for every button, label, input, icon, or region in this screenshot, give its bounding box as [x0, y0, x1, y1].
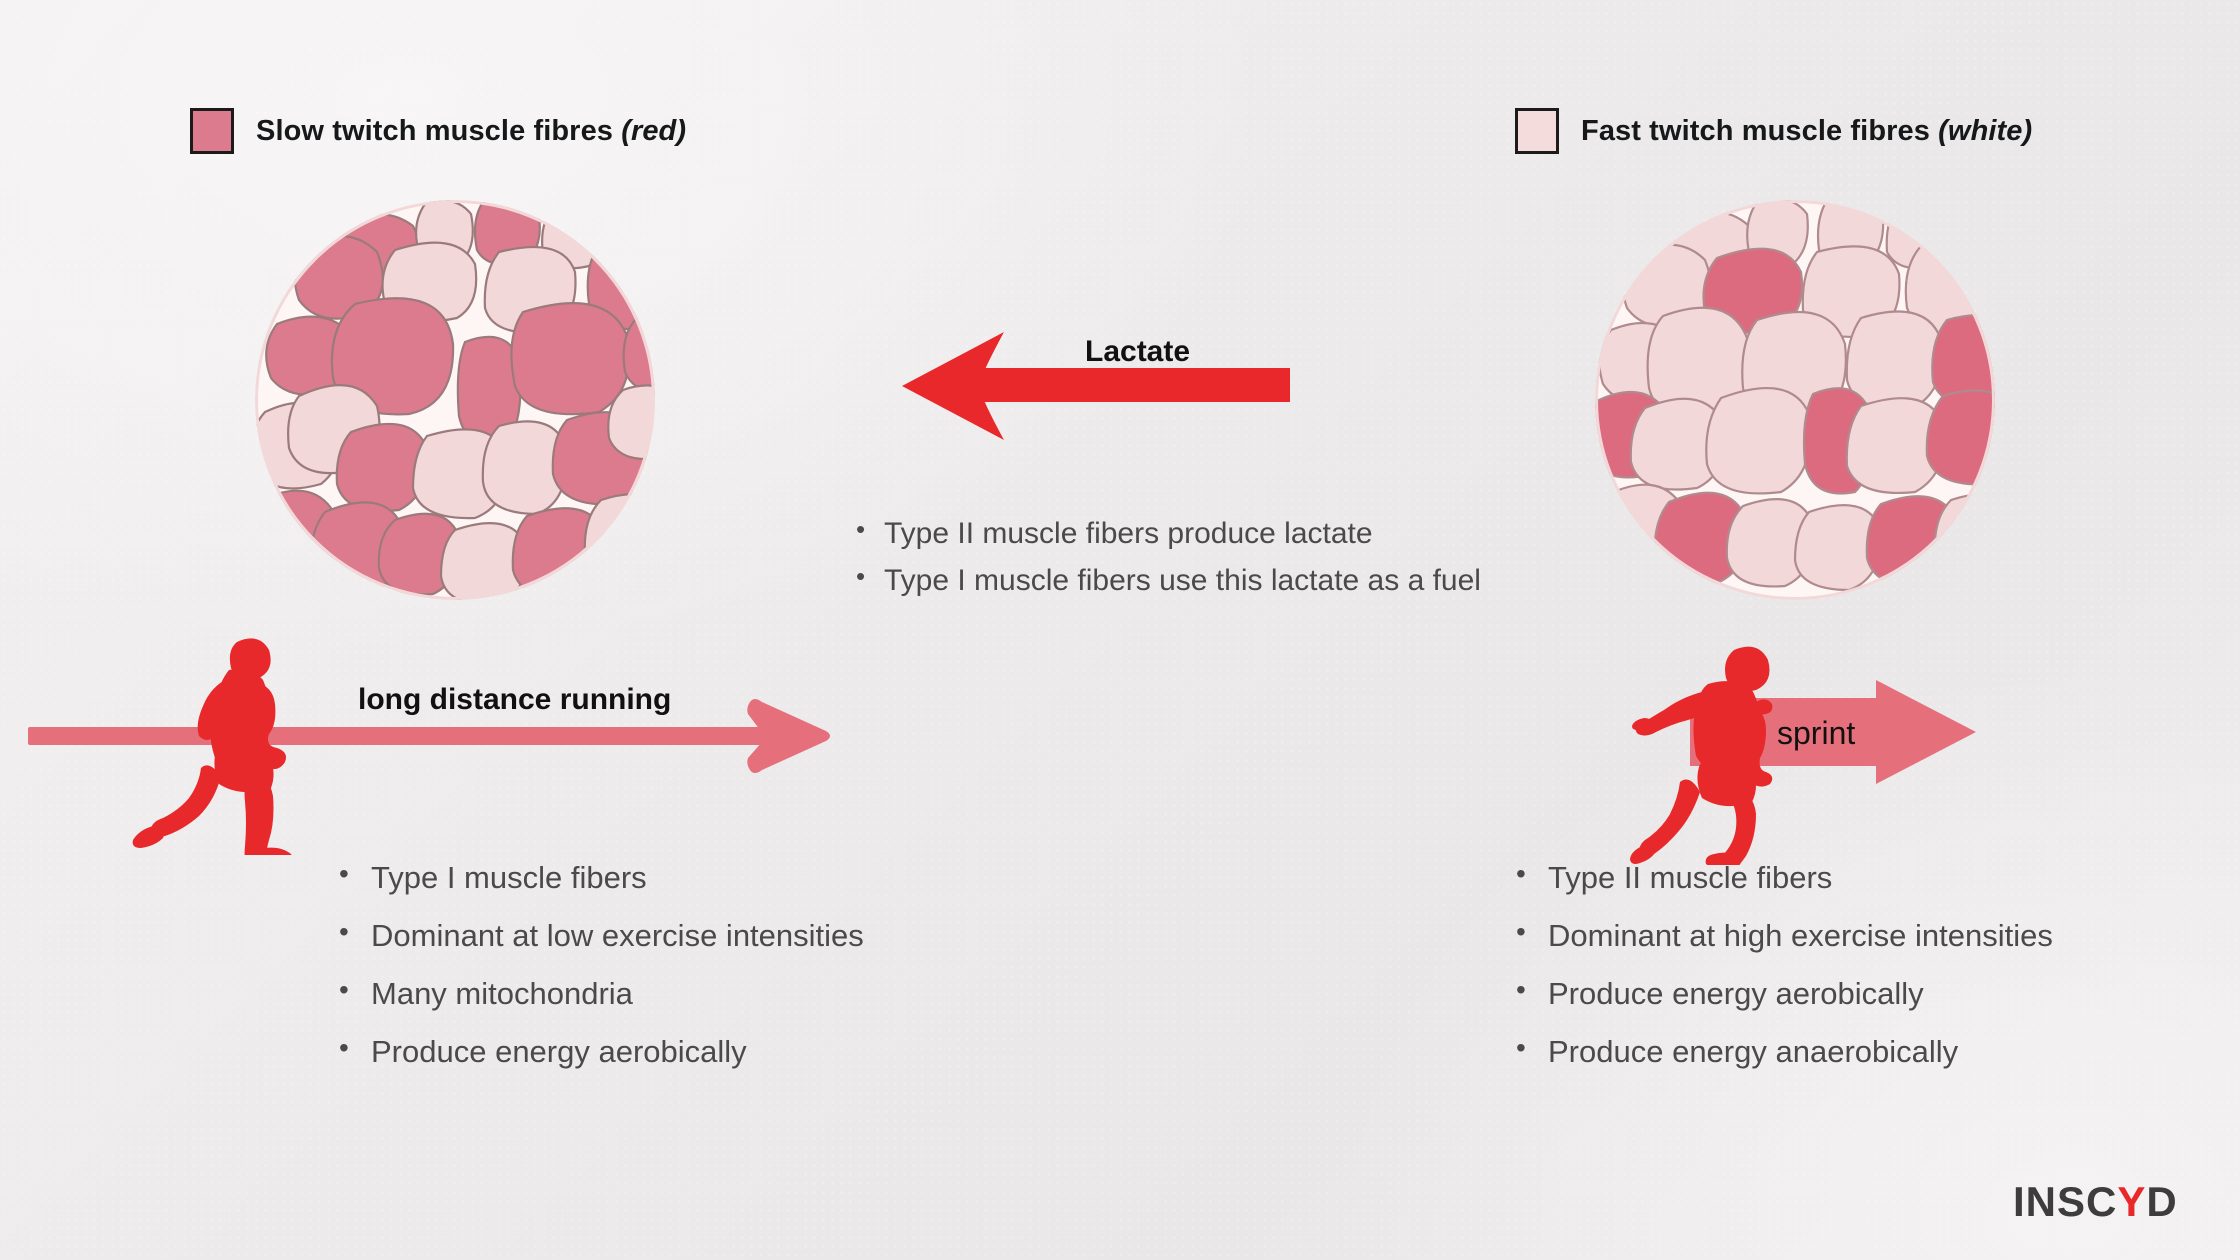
- lactate-label: Lactate: [1085, 335, 1190, 369]
- legend-slow-twitch: Slow twitch muscle fibres (red): [190, 108, 686, 154]
- legend-slow-twitch-em: (red): [621, 115, 686, 147]
- inscyd-logo: INSCYD: [2013, 1178, 2178, 1226]
- list-item: Produce energy aerobically: [335, 1034, 864, 1070]
- fast-twitch-fibre-micrograph: [1595, 200, 1995, 600]
- list-item: Produce energy anaerobically: [1512, 1034, 2053, 1070]
- legend-fast-twitch-label: Fast twitch muscle fibres (white): [1581, 115, 2032, 148]
- legend-slow-twitch-label: Slow twitch muscle fibres (red): [256, 115, 686, 148]
- list-item: Type II muscle fibers: [1512, 860, 2053, 896]
- legend-slow-twitch-text: Slow twitch muscle fibres: [256, 115, 621, 147]
- list-item: Dominant at low exercise intensities: [335, 918, 864, 954]
- list-item: Produce energy aerobically: [1512, 976, 2053, 1012]
- long-distance-running-label: long distance running: [358, 683, 671, 717]
- logo-part2: D: [2146, 1178, 2177, 1225]
- slow-twitch-fibre-micrograph: [255, 200, 655, 600]
- list-item: Dominant at high exercise intensities: [1512, 918, 2053, 954]
- fast-twitch-color-swatch: [1515, 108, 1559, 154]
- left-bullet-list: Type I muscle fibers Dominant at low exe…: [335, 860, 864, 1092]
- sprinter-silhouette: [1630, 640, 1860, 870]
- slow-twitch-color-swatch: [190, 108, 234, 154]
- legend-fast-twitch-em: (white): [1938, 115, 2032, 147]
- long-distance-runner-silhouette: [125, 630, 345, 860]
- logo-part1: INSC: [2013, 1178, 2117, 1225]
- logo-accent-y: Y: [2117, 1178, 2146, 1225]
- list-item: Type II muscle fibers produce lactate: [884, 510, 1481, 557]
- legend-fast-twitch: Fast twitch muscle fibres (white): [1515, 108, 2032, 154]
- list-item: Type I muscle fibers use this lactate as…: [884, 557, 1481, 604]
- legend-fast-twitch-text: Fast twitch muscle fibres: [1581, 115, 1938, 147]
- list-item: Many mitochondria: [335, 976, 864, 1012]
- list-item: Type I muscle fibers: [335, 860, 864, 896]
- right-bullet-list: Type II muscle fibers Dominant at high e…: [1512, 860, 2053, 1092]
- center-bullet-list: Type II muscle fibers produce lactate Ty…: [850, 510, 1481, 605]
